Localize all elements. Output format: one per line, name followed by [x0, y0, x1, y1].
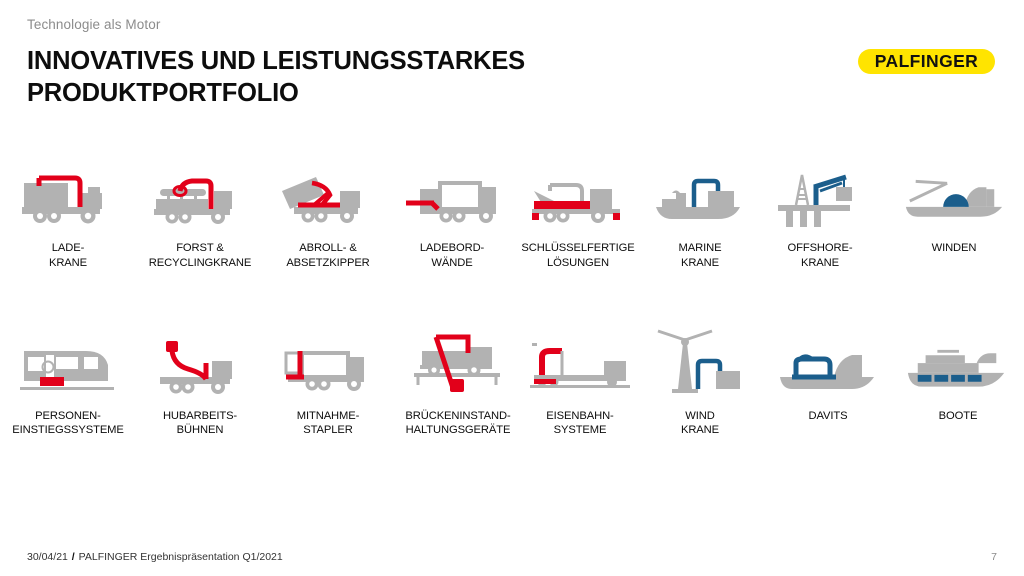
- product-item-offshore-crane[interactable]: OFFSHORE- KRANE: [756, 155, 884, 271]
- product-label: MITNAHME- STAPLER: [297, 409, 360, 439]
- aerial-work-platform-icon: [146, 323, 254, 399]
- railway-system-icon: [526, 323, 634, 399]
- palfinger-logo: PALFINGER: [858, 49, 995, 74]
- product-item-passenger-access[interactable]: PERSONEN- EINSTIEGSSYSTEME: [0, 323, 136, 439]
- truck-mounted-forklift-icon: [274, 323, 382, 399]
- product-item-davits[interactable]: DAVITS: [764, 323, 892, 439]
- offshore-platform-crane-icon: [766, 155, 874, 231]
- page-title: INNOVATIVES UND LEISTUNGSSTARKES PRODUKT…: [27, 45, 525, 109]
- product-item-turnkey[interactable]: SCHLÜSSELFERTIGE LÖSUNGEN: [512, 155, 644, 271]
- product-label: ABROLL- & ABSETZKIPPER: [286, 241, 369, 271]
- tail-lift-truck-icon: [398, 155, 506, 231]
- product-label: HUBARBEITS- BÜHNEN: [163, 409, 237, 439]
- product-item-tail-lift[interactable]: LADEBORD- WÄNDE: [392, 155, 512, 271]
- product-item-hooklift[interactable]: ABROLL- & ABSETZKIPPER: [264, 155, 392, 271]
- page-title-line-1: INNOVATIVES UND LEISTUNGSSTARKES: [27, 45, 525, 77]
- wind-turbine-crane-icon: [646, 323, 754, 399]
- slide: Technologie als Motor INNOVATIVES UND LE…: [0, 0, 1024, 576]
- product-item-wind-crane[interactable]: WIND KRANE: [636, 323, 764, 439]
- passenger-boat-icon: [904, 323, 1012, 399]
- page-title-line-2: PRODUKTPORTFOLIO: [27, 77, 525, 109]
- product-label: OFFSHORE- KRANE: [788, 241, 853, 271]
- slide-eyebrow: Technologie als Motor: [27, 17, 160, 32]
- turnkey-solution-truck-icon: [524, 155, 632, 231]
- product-label: SCHLÜSSELFERTIGE LÖSUNGEN: [521, 241, 634, 271]
- marine-crane-ship-icon: [646, 155, 754, 231]
- product-item-boote[interactable]: BOOTE: [892, 323, 1024, 439]
- product-item-forestry-crane[interactable]: FORST & RECYCLINGKRANE: [136, 155, 264, 271]
- product-label: LADEBORD- WÄNDE: [420, 241, 484, 271]
- product-label: BOOTE: [939, 409, 978, 424]
- footer-presentation-title: PALFINGER Ergebnispräsentation Q1/2021: [79, 551, 283, 563]
- product-label: FORST & RECYCLINGKRANE: [149, 241, 251, 271]
- forestry-recycling-crane-icon: [146, 155, 254, 231]
- footer-date: 30/04/21: [27, 551, 68, 563]
- product-item-railway-systems[interactable]: EISENBAHN- SYSTEME: [524, 323, 636, 439]
- product-label: EISENBAHN- SYSTEME: [546, 409, 613, 439]
- product-label: LADE- KRANE: [49, 241, 87, 271]
- product-row-2: PERSONEN- EINSTIEGSSYSTEME HUBARB: [0, 323, 1024, 439]
- product-label: PERSONEN- EINSTIEGSSYSTEME: [12, 409, 124, 439]
- footer-info: 30/04/21 / PALFINGER Ergebnispräsentatio…: [27, 551, 283, 563]
- hooklift-skiploader-icon: [274, 155, 382, 231]
- footer-separator: /: [71, 551, 76, 563]
- product-label: WIND KRANE: [681, 409, 719, 439]
- product-item-loader-crane[interactable]: LADE- KRANE: [0, 155, 136, 271]
- product-portfolio-grid: LADE- KRANE: [0, 155, 1024, 438]
- passenger-access-train-icon: [14, 323, 122, 399]
- product-label: MARINE KRANE: [679, 241, 722, 271]
- product-row-1: LADE- KRANE: [0, 155, 1024, 271]
- product-item-bridge-inspection[interactable]: BRÜCKENINSTAND- HALTUNGSGERÄTE: [392, 323, 524, 439]
- product-item-marine-crane[interactable]: MARINE KRANE: [644, 155, 756, 271]
- logo-wordmark: PALFINGER: [875, 51, 978, 72]
- product-item-truck-forklift[interactable]: MITNAHME- STAPLER: [264, 323, 392, 439]
- winch-vessel-icon: [900, 155, 1008, 231]
- product-item-winden[interactable]: WINDEN: [884, 155, 1024, 271]
- davit-ship-icon: [774, 323, 882, 399]
- loader-crane-truck-icon: [14, 155, 122, 231]
- product-label: WINDEN: [932, 241, 977, 256]
- product-label: DAVITS: [809, 409, 848, 424]
- bridge-inspection-unit-icon: [404, 323, 512, 399]
- product-item-aerial-platform[interactable]: HUBARBEITS- BÜHNEN: [136, 323, 264, 439]
- page-number: 7: [991, 551, 997, 563]
- product-label: BRÜCKENINSTAND- HALTUNGSGERÄTE: [405, 409, 510, 439]
